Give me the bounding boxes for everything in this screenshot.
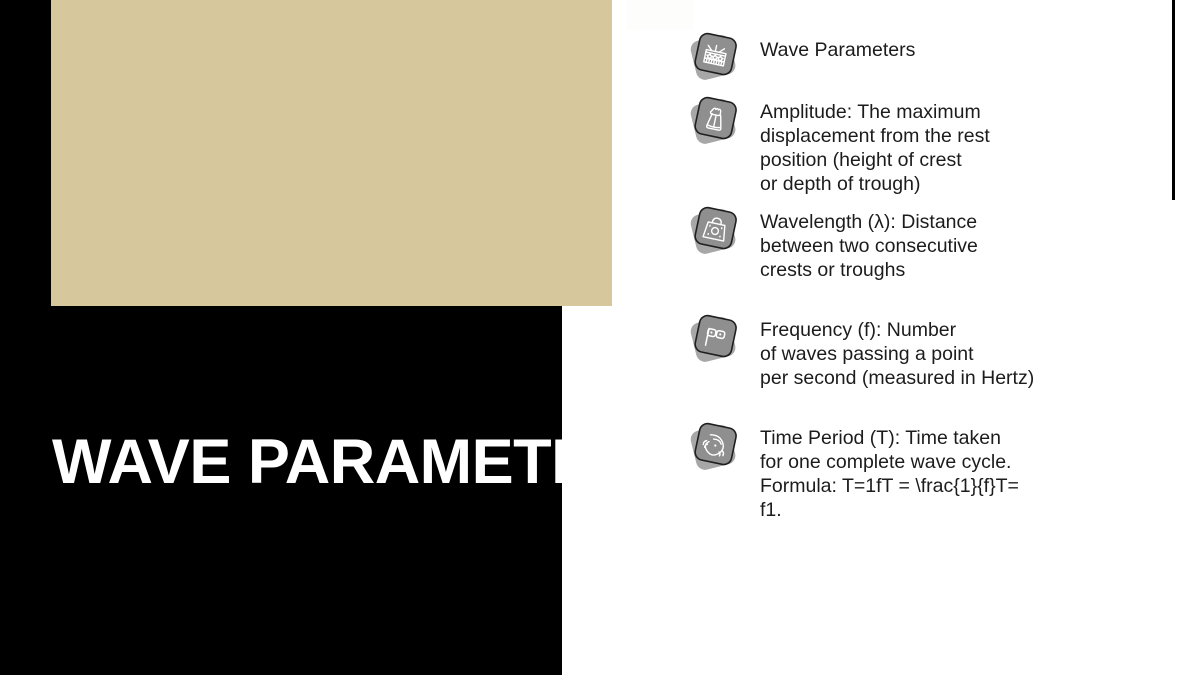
drum-stage-icon	[686, 28, 744, 86]
handbag-icon	[686, 202, 744, 260]
list-item: Wave Parameters	[686, 32, 1156, 100]
list-item-text: Frequency (f): Number of waves passing a…	[760, 318, 1156, 390]
list-item: Frequency (f): Number of waves passing a…	[686, 318, 1156, 426]
list-item-text: Wave Parameters	[760, 32, 1156, 62]
left-black-strip	[0, 0, 51, 306]
list-item: Amplitude: The maximum displacement from…	[686, 100, 1156, 210]
list-item-text: Wavelength (λ): Distance between two con…	[760, 210, 1156, 282]
telephone-icon	[686, 418, 744, 476]
content-list: Wave Parameters Amplitude: The ma	[686, 32, 1156, 536]
background-artifact	[627, 0, 693, 30]
list-item: Wavelength (λ): Distance between two con…	[686, 210, 1156, 318]
beige-image-panel	[51, 0, 612, 306]
list-item-text: Amplitude: The maximum displacement from…	[760, 100, 1156, 196]
slide-title: WAVE PARAMETE	[52, 424, 672, 500]
list-item: Time Period (T): Time taken for one comp…	[686, 426, 1156, 536]
glasses-face-icon	[686, 310, 744, 368]
list-item-text: Time Period (T): Time taken for one comp…	[760, 426, 1156, 522]
right-vertical-rule	[1172, 0, 1175, 200]
dress-figure-icon	[686, 92, 744, 150]
